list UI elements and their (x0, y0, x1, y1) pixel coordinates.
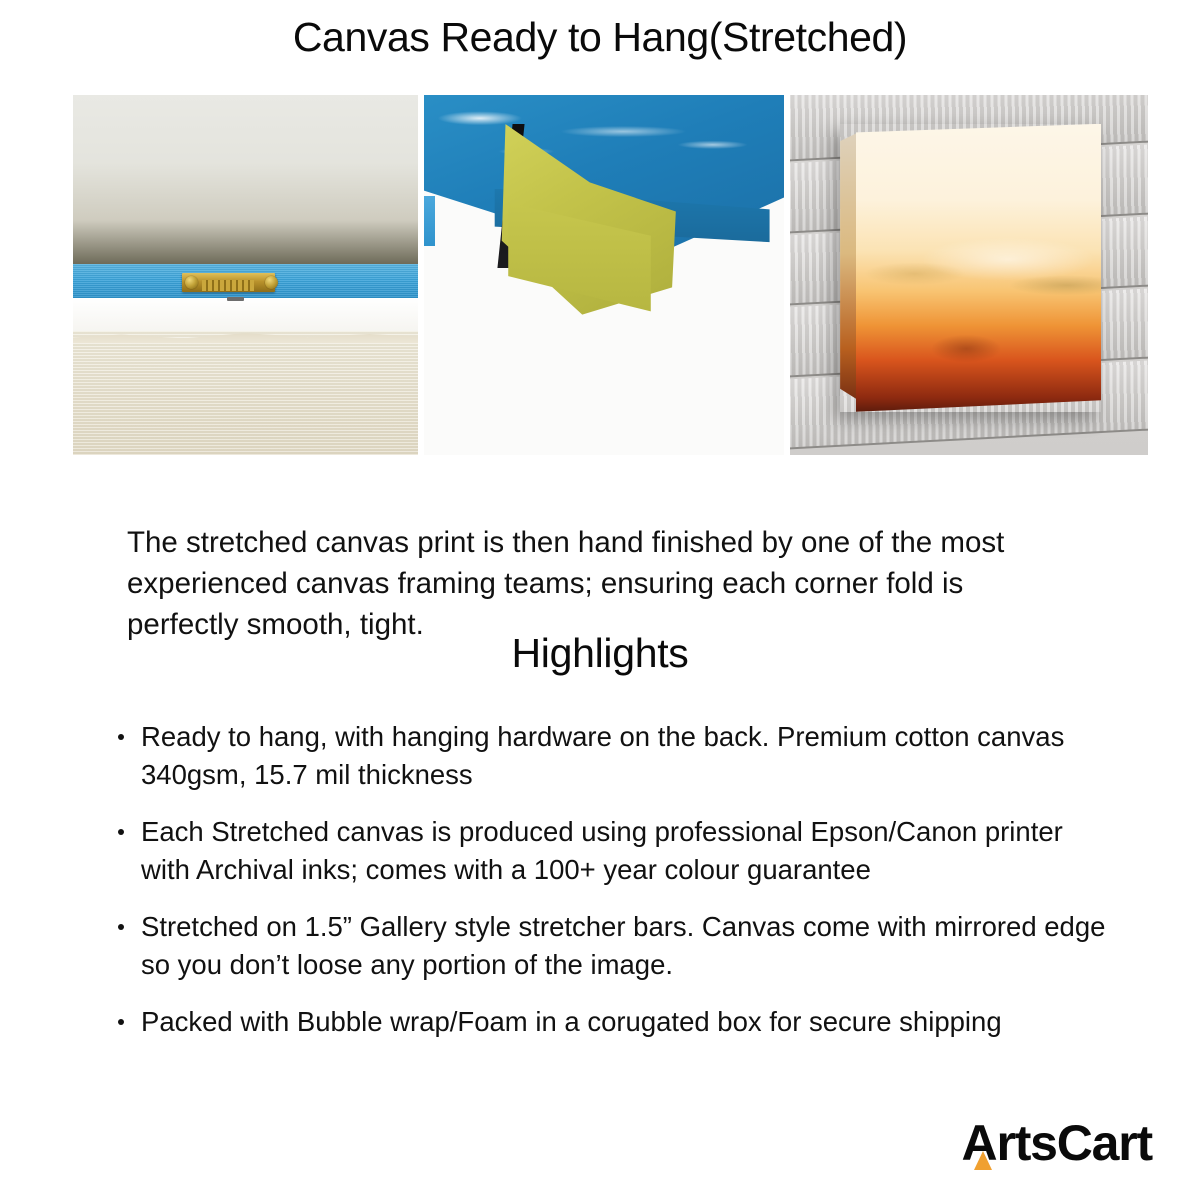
page-title: Canvas Ready to Hang(Stretched) (0, 14, 1200, 61)
product-image-gallery (73, 95, 1148, 455)
highlights-heading: Highlights (0, 630, 1200, 677)
artscart-logo: A rtsCart (962, 1114, 1152, 1172)
photo1-white-band (73, 298, 418, 330)
highlight-item: Stretched on 1.5” Gallery style stretche… (108, 908, 1113, 984)
description-paragraph: The stretched canvas print is then hand … (127, 522, 1082, 645)
photo1-upper-surface (73, 95, 418, 264)
orange-triangle-icon (974, 1151, 992, 1170)
logo-wordmark: rtsCart (996, 1114, 1152, 1172)
highlight-item: Packed with Bubble wrap/Foam in a coruga… (108, 1003, 1113, 1041)
photo3-mounted-canvas (840, 124, 1101, 412)
logo-letter-a: A (962, 1114, 997, 1172)
photo2-left-blue-sliver (424, 196, 435, 246)
highlight-item: Ready to hang, with hanging hardware on … (108, 718, 1113, 794)
photo3-sunset-print (856, 124, 1102, 412)
corner-fold-photo (424, 95, 784, 455)
highlights-list: Ready to hang, with hanging hardware on … (108, 718, 1113, 1060)
photo1-raw-canvas-surface (73, 331, 418, 455)
photo3-canvas-side-edge (840, 124, 858, 412)
hanger-screw-left-icon (185, 276, 198, 289)
hung-canvas-photo (790, 95, 1148, 455)
canvas-back-hanger-photo (73, 95, 418, 455)
photo1-metal-clip (227, 297, 244, 301)
highlight-item: Each Stretched canvas is produced using … (108, 813, 1113, 889)
hanger-screw-right-icon (265, 276, 278, 289)
